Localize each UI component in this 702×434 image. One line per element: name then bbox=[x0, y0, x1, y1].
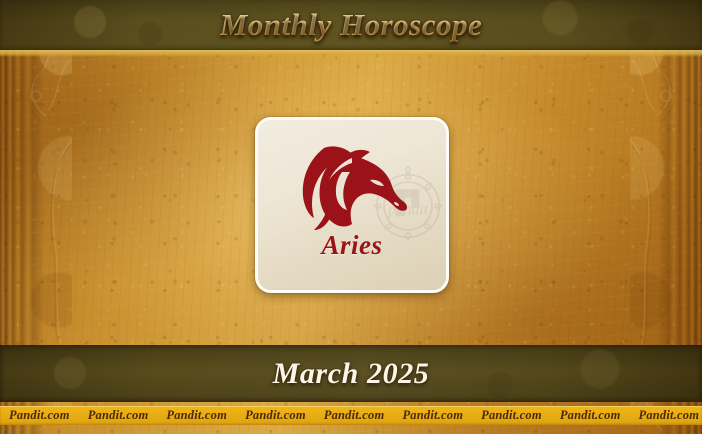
pandit-watermark-item: Pandit.com bbox=[236, 408, 315, 423]
monthly-horoscope-banner: Monthly Horoscope bbox=[0, 0, 702, 434]
pandit-watermark-item: Pandit.com bbox=[393, 408, 472, 423]
aries-ram-head-icon bbox=[290, 132, 414, 232]
pandit-watermark-strip: Pandit.comPandit.comPandit.comPandit.com… bbox=[0, 406, 702, 425]
month-band: March 2025 bbox=[0, 345, 702, 402]
pandit-watermark-item: Pandit.com bbox=[79, 408, 158, 423]
pandit-watermark-item: Pandit.com bbox=[472, 408, 551, 423]
page-title: Monthly Horoscope bbox=[220, 7, 483, 43]
zodiac-sign-name: Aries bbox=[321, 230, 382, 261]
pandit-watermark-item: Pandit.com bbox=[630, 408, 702, 423]
pandit-watermark-item: Pandit.com bbox=[315, 408, 394, 423]
pandit-watermark-item: Pandit.com bbox=[551, 408, 630, 423]
pandit-watermark-item: Pandit.com bbox=[157, 408, 236, 423]
month-label: March 2025 bbox=[273, 357, 430, 391]
zodiac-sign-card[interactable]: pandit bbox=[255, 117, 449, 293]
header-band: Monthly Horoscope bbox=[0, 0, 702, 50]
pandit-watermark-item: Pandit.com bbox=[0, 408, 79, 423]
header-band-gold-edge bbox=[0, 50, 702, 57]
